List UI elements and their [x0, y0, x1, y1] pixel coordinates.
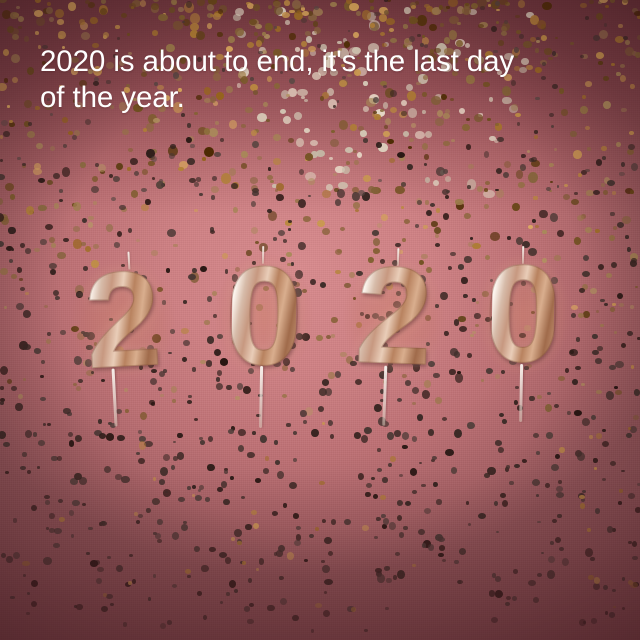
photo-canvas: 2020 2020 is about to end, it's the last…	[0, 0, 640, 640]
caption-text: 2020 is about to end, it's the last day …	[40, 44, 580, 116]
bottom-shadow-band	[0, 470, 640, 640]
